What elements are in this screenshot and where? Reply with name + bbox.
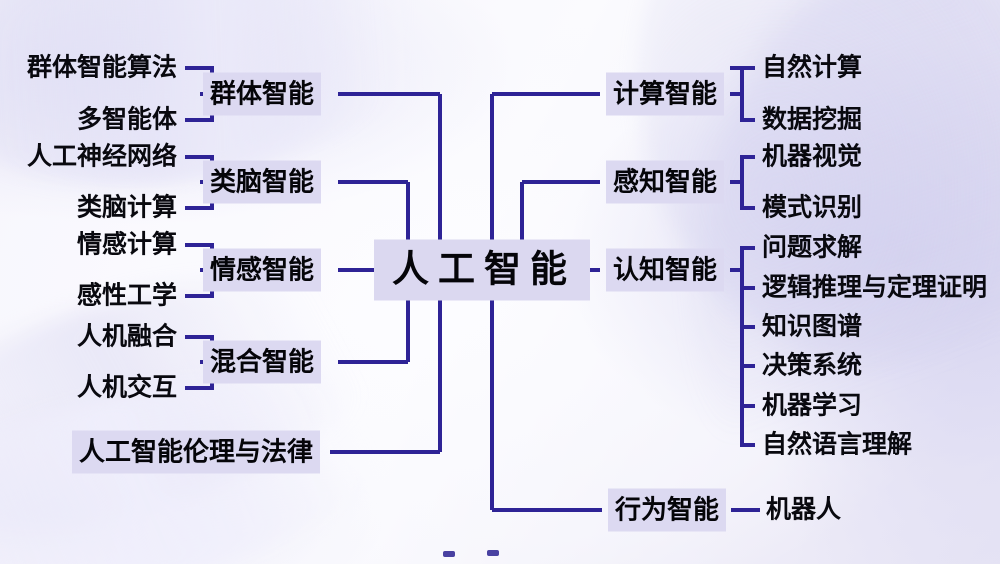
leaf-decision-system[interactable]: 决策系统 [762,354,862,379]
leaf-knowledge-graph[interactable]: 知识图谱 [762,315,862,340]
branch-node-affective-intelligence[interactable]: 情感智能 [203,249,321,292]
leaf-swarm-algorithms[interactable]: 群体智能算法 [27,56,177,81]
leaf-problem-solving[interactable]: 问题求解 [762,236,862,261]
leaf-human-machine-interaction[interactable]: 人机交互 [77,376,177,401]
mindmap-canvas: 人工智能 群体智能 类脑智能 情感智能 混合智能 人工智能伦理与法律 群体智能算… [0,0,1000,564]
branch-node-hybrid-intelligence[interactable]: 混合智能 [203,341,321,384]
center-node[interactable]: 人工智能 [374,240,590,301]
leaf-machine-learning[interactable]: 机器学习 [762,394,862,419]
branch-node-swarm-intelligence[interactable]: 群体智能 [203,73,321,116]
leaf-affective-computing[interactable]: 情感计算 [77,233,177,258]
branch-node-behavioral-intelligence[interactable]: 行为智能 [608,489,726,532]
right-bracket-cognitive-spine [742,248,755,445]
leaf-kansei-engineering[interactable]: 感性工学 [77,284,177,309]
branch-node-computational-intelligence[interactable]: 计算智能 [606,73,724,116]
leaf-robot[interactable]: 机器人 [766,498,841,523]
leaf-natural-computing[interactable]: 自然计算 [762,56,862,81]
leaf-brain-like-computing[interactable]: 类脑计算 [77,196,177,221]
right-bracket-perceptual [742,157,755,208]
leaf-human-machine-fusion[interactable]: 人机融合 [77,325,177,350]
branch-node-cognitive-intelligence[interactable]: 认知智能 [606,249,724,292]
leaf-pattern-recognition[interactable]: 模式识别 [762,196,862,221]
bottom-edge-mark-left [443,551,455,557]
leaf-artificial-neural-network[interactable]: 人工神经网络 [27,145,177,170]
leaf-multi-agent[interactable]: 多智能体 [77,108,177,133]
right-bracket-computational [742,68,755,120]
leaf-machine-vision[interactable]: 机器视觉 [762,145,862,170]
leaf-natural-language-understanding[interactable]: 自然语言理解 [762,433,912,458]
leaf-data-mining[interactable]: 数据挖掘 [762,108,862,133]
branch-node-brain-like-intelligence[interactable]: 类脑智能 [203,161,321,204]
leaf-logical-reasoning-theorem-proving[interactable]: 逻辑推理与定理证明 [762,276,987,301]
bottom-edge-mark-right [487,550,499,556]
branch-node-ai-ethics-and-law[interactable]: 人工智能伦理与法律 [72,431,320,474]
branch-node-perceptual-intelligence[interactable]: 感知智能 [606,161,724,204]
